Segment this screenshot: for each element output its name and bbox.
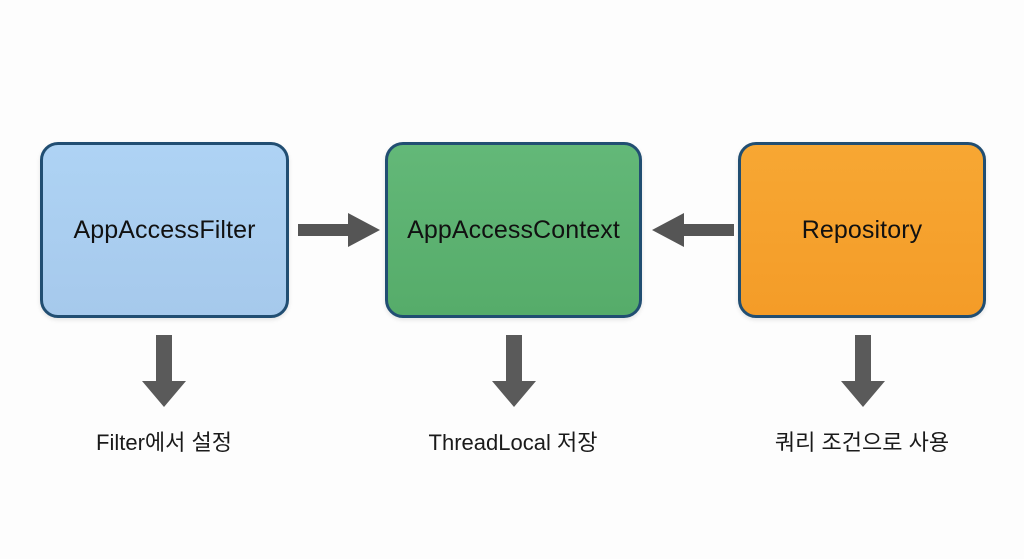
arrow-right-icon bbox=[296, 206, 382, 254]
connector-filter-to-context bbox=[296, 206, 382, 254]
arrow-down-icon bbox=[483, 333, 545, 409]
node-label: Repository bbox=[802, 216, 923, 245]
arrow-left-icon bbox=[650, 206, 736, 254]
node-label: AppAccessFilter bbox=[73, 216, 255, 245]
node-label: AppAccessContext bbox=[407, 216, 620, 245]
node-repository[interactable]: Repository bbox=[738, 142, 986, 318]
connector-context-down bbox=[483, 333, 545, 409]
connector-repository-to-context bbox=[650, 206, 736, 254]
caption-app-access-filter: Filter에서 설정 bbox=[44, 424, 284, 458]
caption-repository: 쿼리 조건으로 사용 bbox=[742, 424, 982, 458]
node-app-access-context[interactable]: AppAccessContext bbox=[385, 142, 642, 318]
arrow-down-icon bbox=[832, 333, 894, 409]
diagram-canvas: AppAccessFilter AppAccessContext Reposit… bbox=[0, 0, 1024, 559]
arrow-down-icon bbox=[133, 333, 195, 409]
caption-app-access-context: ThreadLocal 저장 bbox=[393, 424, 633, 458]
connector-repository-down bbox=[832, 333, 894, 409]
connector-filter-down bbox=[133, 333, 195, 409]
node-app-access-filter[interactable]: AppAccessFilter bbox=[40, 142, 289, 318]
